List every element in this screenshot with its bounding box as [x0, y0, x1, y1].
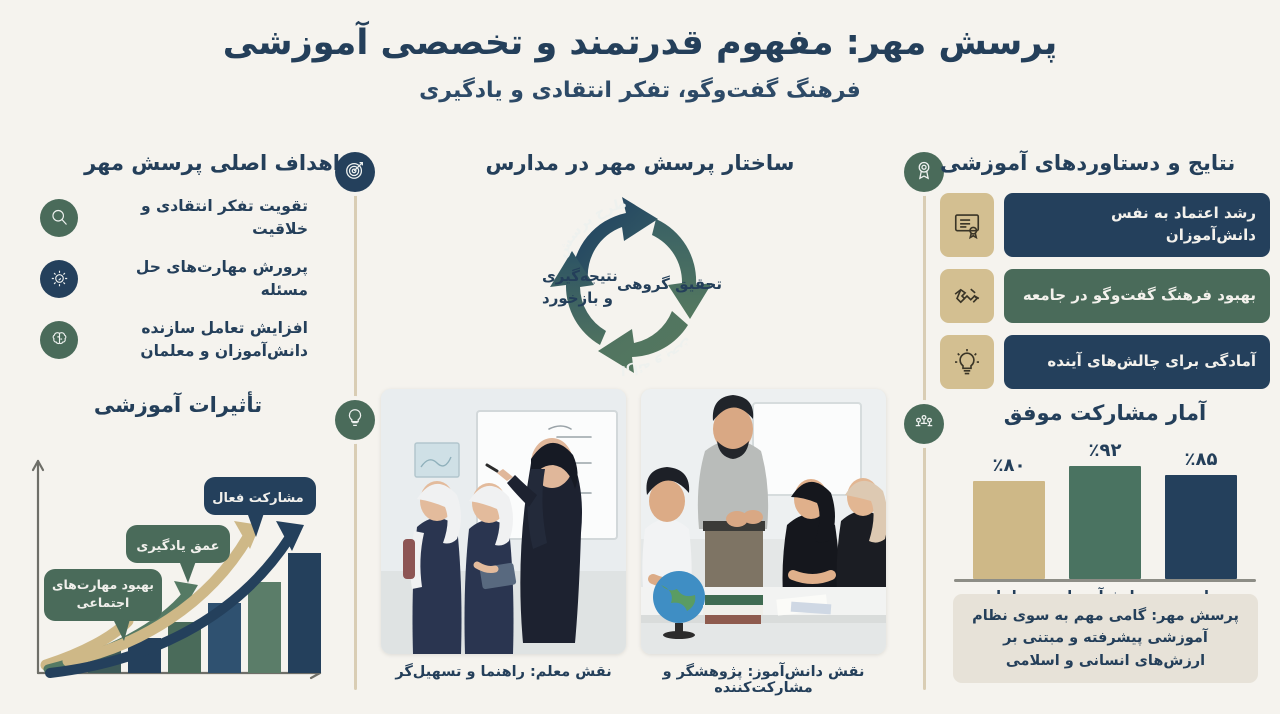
award-icon — [913, 159, 935, 185]
cycle-stage-right — [652, 219, 712, 319]
brain-icon — [40, 321, 78, 359]
list-item[interactable]: تقویت تفکر انتقادی و خلاقیت — [40, 195, 340, 240]
cycle-section: ساختار پرسش مهر در مدارس — [400, 150, 880, 399]
cycle-label-right: تحقیق گروهی — [617, 275, 722, 293]
certificate-icon — [940, 193, 994, 257]
outcomes-section: نتایج و دستاوردهای آموزشی رشد اعتماد به … — [940, 150, 1270, 401]
people-group-icon — [913, 411, 935, 437]
svg-text:اجتماعی: اجتماعی — [77, 595, 130, 610]
cycle-label-left-1: نتیجه‌گیری — [542, 267, 618, 285]
cycle-title: ساختار پرسش مهر در مدارس — [400, 150, 880, 177]
footer-quote: پرسش مهر: گامی مهم به سوی نظام آموزشی پی… — [953, 594, 1258, 683]
goals-node — [335, 152, 375, 192]
bar-group: ٪۸۵ — [1164, 449, 1238, 579]
bar-group: ٪۹۲ — [1068, 440, 1142, 579]
stats-section: آمار مشارکت موفق ٪۸۵ ٪۹۲ ٪۸۰ مدارس دانش‌… — [940, 400, 1270, 605]
outcomes-list: رشد اعتماد به نفس دانش‌آموزان بهبود فرهن… — [940, 193, 1270, 389]
bar-rect — [973, 481, 1045, 579]
photo-card-students[interactable]: نقش دانش‌آموز: پژوهشگر و مشارکت‌کننده — [641, 389, 886, 696]
photo-caption: نقش دانش‌آموز: پژوهشگر و مشارکت‌کننده — [641, 664, 886, 696]
photo-caption: نقش معلم: راهنما و تسهیل‌گر — [381, 664, 626, 680]
header: پرسش مهر: مفهوم قدرتمند و تخصصی آموزشی ف… — [0, 22, 1280, 103]
stats-title: آمار مشارکت موفق — [940, 400, 1270, 427]
handshake-icon — [940, 269, 994, 323]
bar-value-label: ٪۸۰ — [993, 455, 1026, 476]
callout-label: عمق یادگیری — [136, 538, 219, 554]
photo-students — [641, 389, 886, 654]
lightbulb-icon — [940, 335, 994, 389]
goals-section: اهداف اصلی پرسش مهر تقویت تفکر انتقادی و… — [40, 150, 340, 378]
callout-label: مشارکت فعال — [212, 491, 304, 506]
classroom-illustration-a — [381, 389, 626, 654]
bar-group: ٪۸۰ — [972, 455, 1046, 579]
growth-title: تأثیرات آموزشی — [8, 392, 348, 419]
outcome-label: آمادگی برای چالش‌های آینده — [1004, 335, 1270, 389]
goal-label: افزایش تعامل سازنده دانش‌آموزان و معلمان — [90, 317, 308, 362]
page-title: پرسش مهر: مفهوم قدرتمند و تخصصی آموزشی — [0, 22, 1280, 66]
growth-chart: بهبود مهارت‌های اجتماعی عمق یادگیری مشار… — [8, 425, 348, 701]
goals-title: اهداف اصلی پرسش مهر — [40, 150, 340, 177]
infographic-canvas: پرسش مهر: مفهوم قدرتمند و تخصصی آموزشی ف… — [0, 0, 1280, 714]
outcome-label: بهبود فرهنگ گفت‌وگو در جامعه — [1004, 269, 1270, 323]
list-item[interactable]: رشد اعتماد به نفس دانش‌آموزان — [940, 193, 1270, 257]
photo-card-teacher[interactable]: نقش معلم: راهنما و تسهیل‌گر — [381, 389, 626, 680]
cycle-diagram: طرح پرسش ارائه و بحث تحقیق گروهی نتیجه‌گ… — [400, 185, 880, 399]
growth-section: تأثیرات آموزشی — [8, 392, 348, 701]
stats-node — [904, 404, 944, 444]
bar-rect — [1165, 475, 1237, 579]
bar-baseline — [954, 579, 1256, 582]
magnifier-icon — [40, 199, 78, 237]
bar-value-label: ٪۹۲ — [1089, 440, 1122, 461]
target-icon — [344, 159, 366, 185]
outcomes-title: نتایج و دستاوردهای آموزشی — [940, 150, 1270, 177]
outcomes-node — [904, 152, 944, 192]
bar-value-label: ٪۸۵ — [1185, 449, 1218, 470]
page-subtitle: فرهنگ گفت‌وگو، تفکر انتقادی و یادگیری — [0, 78, 1280, 103]
goal-label: تقویت تفکر انتقادی و خلاقیت — [90, 195, 308, 240]
list-item[interactable]: آمادگی برای چالش‌های آینده — [940, 335, 1270, 389]
list-item[interactable]: افزایش تعامل سازنده دانش‌آموزان و معلمان — [40, 317, 340, 362]
photo-teacher — [381, 389, 626, 654]
goal-label: پرورش مهارت‌های حل مسئله — [90, 256, 308, 301]
list-item[interactable]: پرورش مهارت‌های حل مسئله — [40, 256, 340, 301]
gear-idea-icon — [40, 260, 78, 298]
outcome-label: رشد اعتماد به نفس دانش‌آموزان — [1004, 193, 1270, 257]
bar-rect — [1069, 466, 1141, 579]
stats-bar-chart: ٪۸۵ ٪۹۲ ٪۸۰ — [940, 439, 1270, 579]
list-item[interactable]: بهبود فرهنگ گفت‌وگو در جامعه — [940, 269, 1270, 323]
goals-list: تقویت تفکر انتقادی و خلاقیت پرورش مهارت‌… — [40, 195, 340, 362]
classroom-illustration-b — [641, 389, 886, 654]
callout-label: بهبود مهارت‌های — [52, 577, 154, 592]
cycle-label-left-2: و بازخورد — [542, 289, 613, 307]
